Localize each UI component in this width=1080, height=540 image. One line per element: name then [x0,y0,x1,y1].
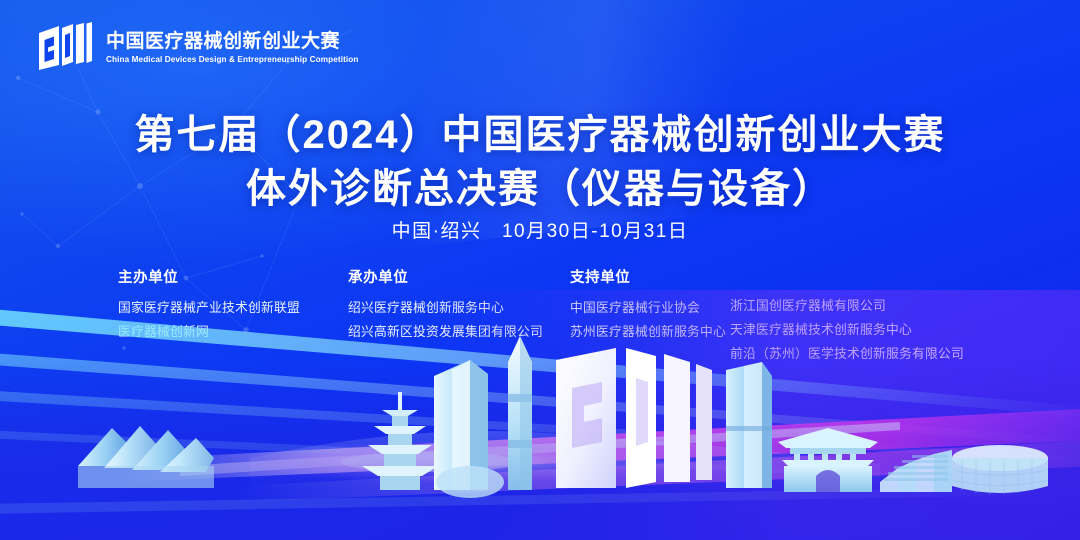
title-line-2: 体外诊断总决赛（仪器与设备） [0,162,1080,216]
logo-title-en: China Medical Devices Design & Entrepren… [106,55,358,65]
title-line-1: 第七届（2024）中国医疗器械创新创业大赛 [0,108,1080,162]
competition-logo-mark [36,22,94,72]
organizer-item: 国家医疗器械产业技术创新联盟 [118,296,348,320]
event-title: 第七届（2024）中国医疗器械创新创业大赛 体外诊断总决赛（仪器与设备） [0,108,1080,216]
logo-title-cn: 中国医疗器械创新创业大赛 [106,31,358,53]
organizer-item: 浙江国创医疗器械有限公司 [730,294,990,318]
brand-logo: 中国医疗器械创新创业大赛 China Medical Devices Desig… [36,22,358,72]
organizer-header: 支持单位 [570,266,730,287]
organizer-header: 主办单位 [118,266,348,287]
event-location-date: 中国·绍兴 10月30日-10月31日 [0,216,1080,243]
landmark-spire-tower [508,336,532,490]
organizer-item: 绍兴医疗器械创新服务中心 [348,296,570,320]
landmark-logo-monument [556,348,712,488]
landmark-twin-tower [726,362,772,488]
event-banner: 中国医疗器械创新创业大赛 China Medical Devices Desig… [0,0,1080,540]
city-skyline-illustration [0,330,1080,540]
organizer-item: 中国医疗器械行业协会 [570,296,730,320]
organizer-header: 承办单位 [348,266,570,287]
